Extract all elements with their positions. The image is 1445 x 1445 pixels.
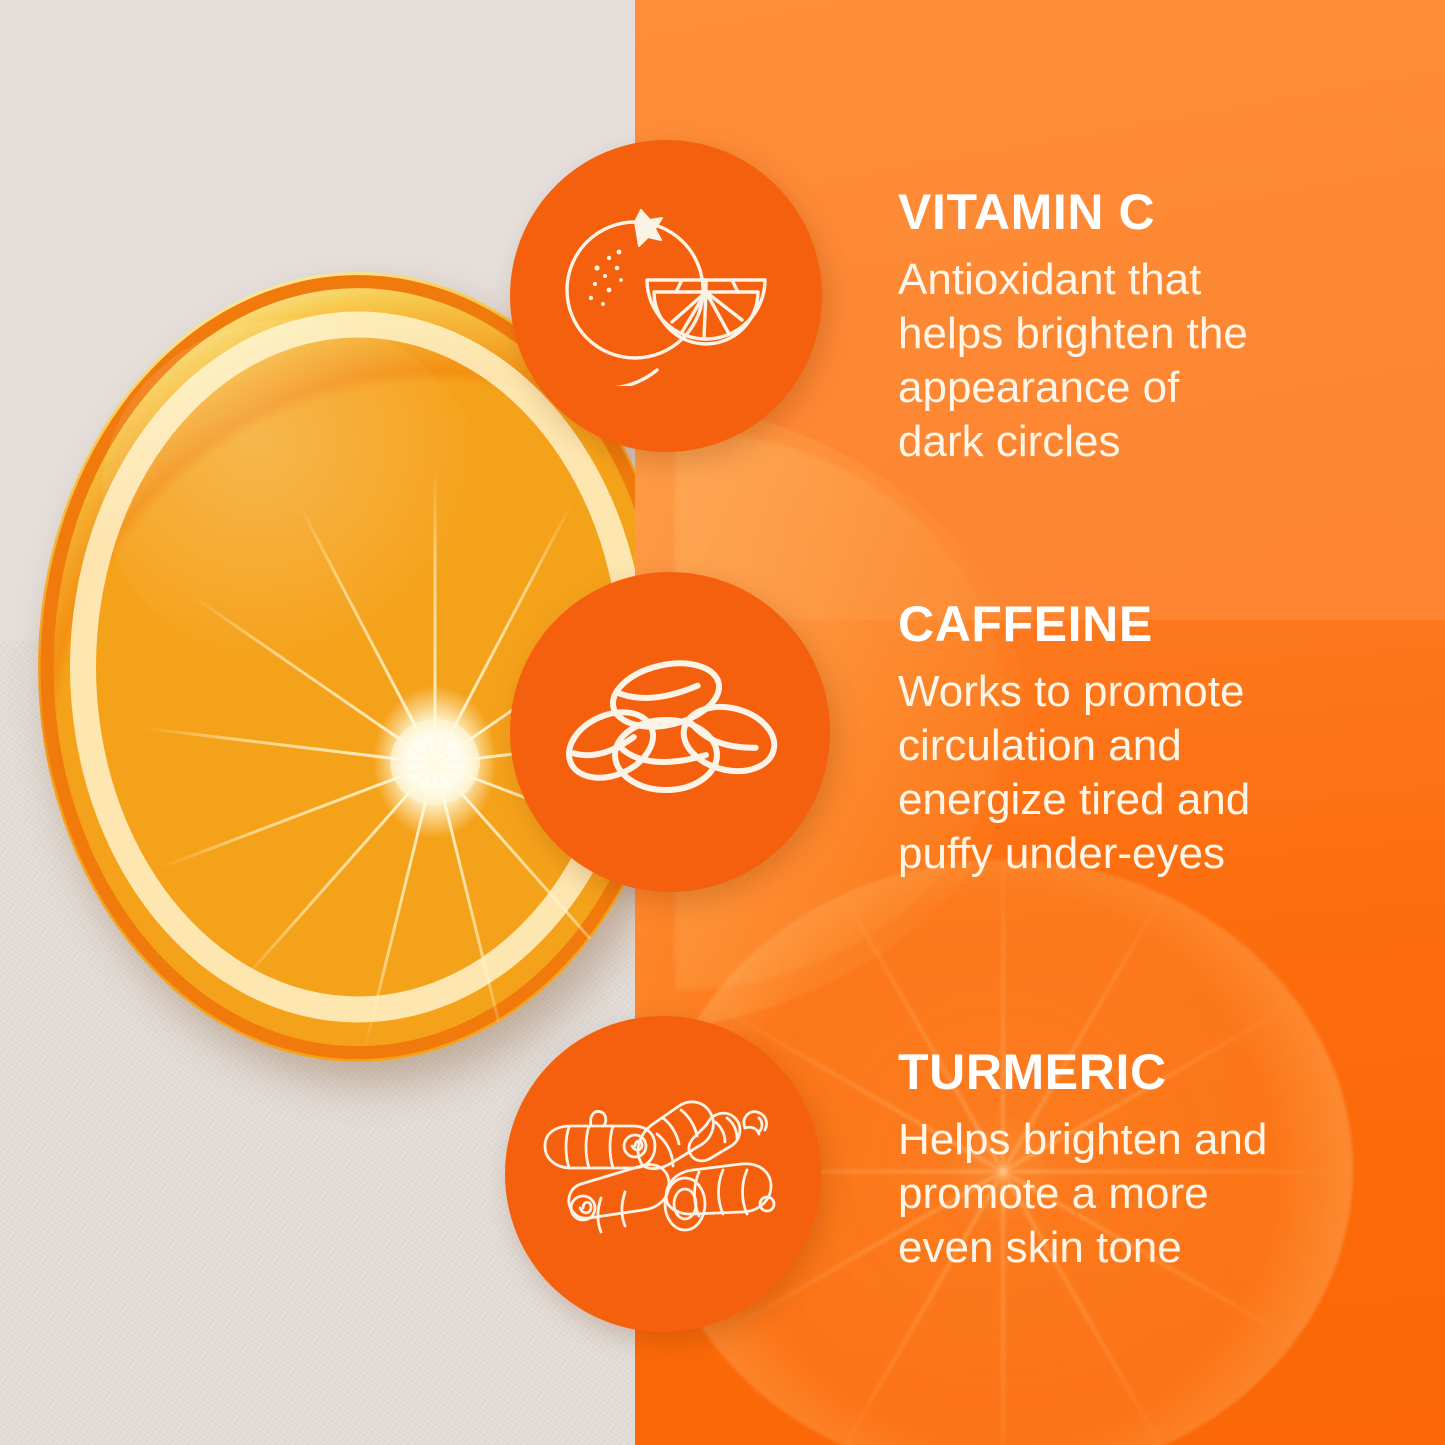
photo-highlight — [102, 319, 486, 667]
coffee-beans-icon — [563, 657, 778, 807]
benefit-title: TURMERIC — [898, 1046, 1348, 1099]
ingredient-badge-turmeric[interactable] — [505, 1016, 821, 1332]
ingredient-benefits-infographic: VITAMIN C Antioxidant that helps brighte… — [0, 0, 1445, 1445]
benefit-body: Works to promote circulation and energiz… — [898, 665, 1338, 881]
orange-segment-divider — [433, 469, 436, 763]
ingredient-badge-caffeine[interactable] — [510, 572, 830, 892]
benefit-title: VITAMIN C — [898, 186, 1328, 239]
orange-wedge-icon — [647, 280, 765, 344]
benefit-text-turmeric: TURMERIC Helps brighten and promote a mo… — [898, 1046, 1348, 1275]
benefit-title: CAFFEINE — [898, 598, 1338, 651]
benefit-body: Antioxidant that helps brighten the appe… — [898, 253, 1328, 469]
benefit-body: Helps brighten and promote a more even s… — [898, 1113, 1348, 1275]
orange-texture-dots — [589, 250, 623, 306]
orange-fruit-icon — [551, 206, 781, 386]
ingredient-badge-vitamin-c[interactable] — [510, 140, 822, 452]
turmeric-root-icon — [539, 1094, 787, 1254]
benefit-text-vitamin-c: VITAMIN C Antioxidant that helps brighte… — [898, 186, 1328, 469]
benefit-text-caffeine: CAFFEINE Works to promote circulation an… — [898, 598, 1338, 881]
